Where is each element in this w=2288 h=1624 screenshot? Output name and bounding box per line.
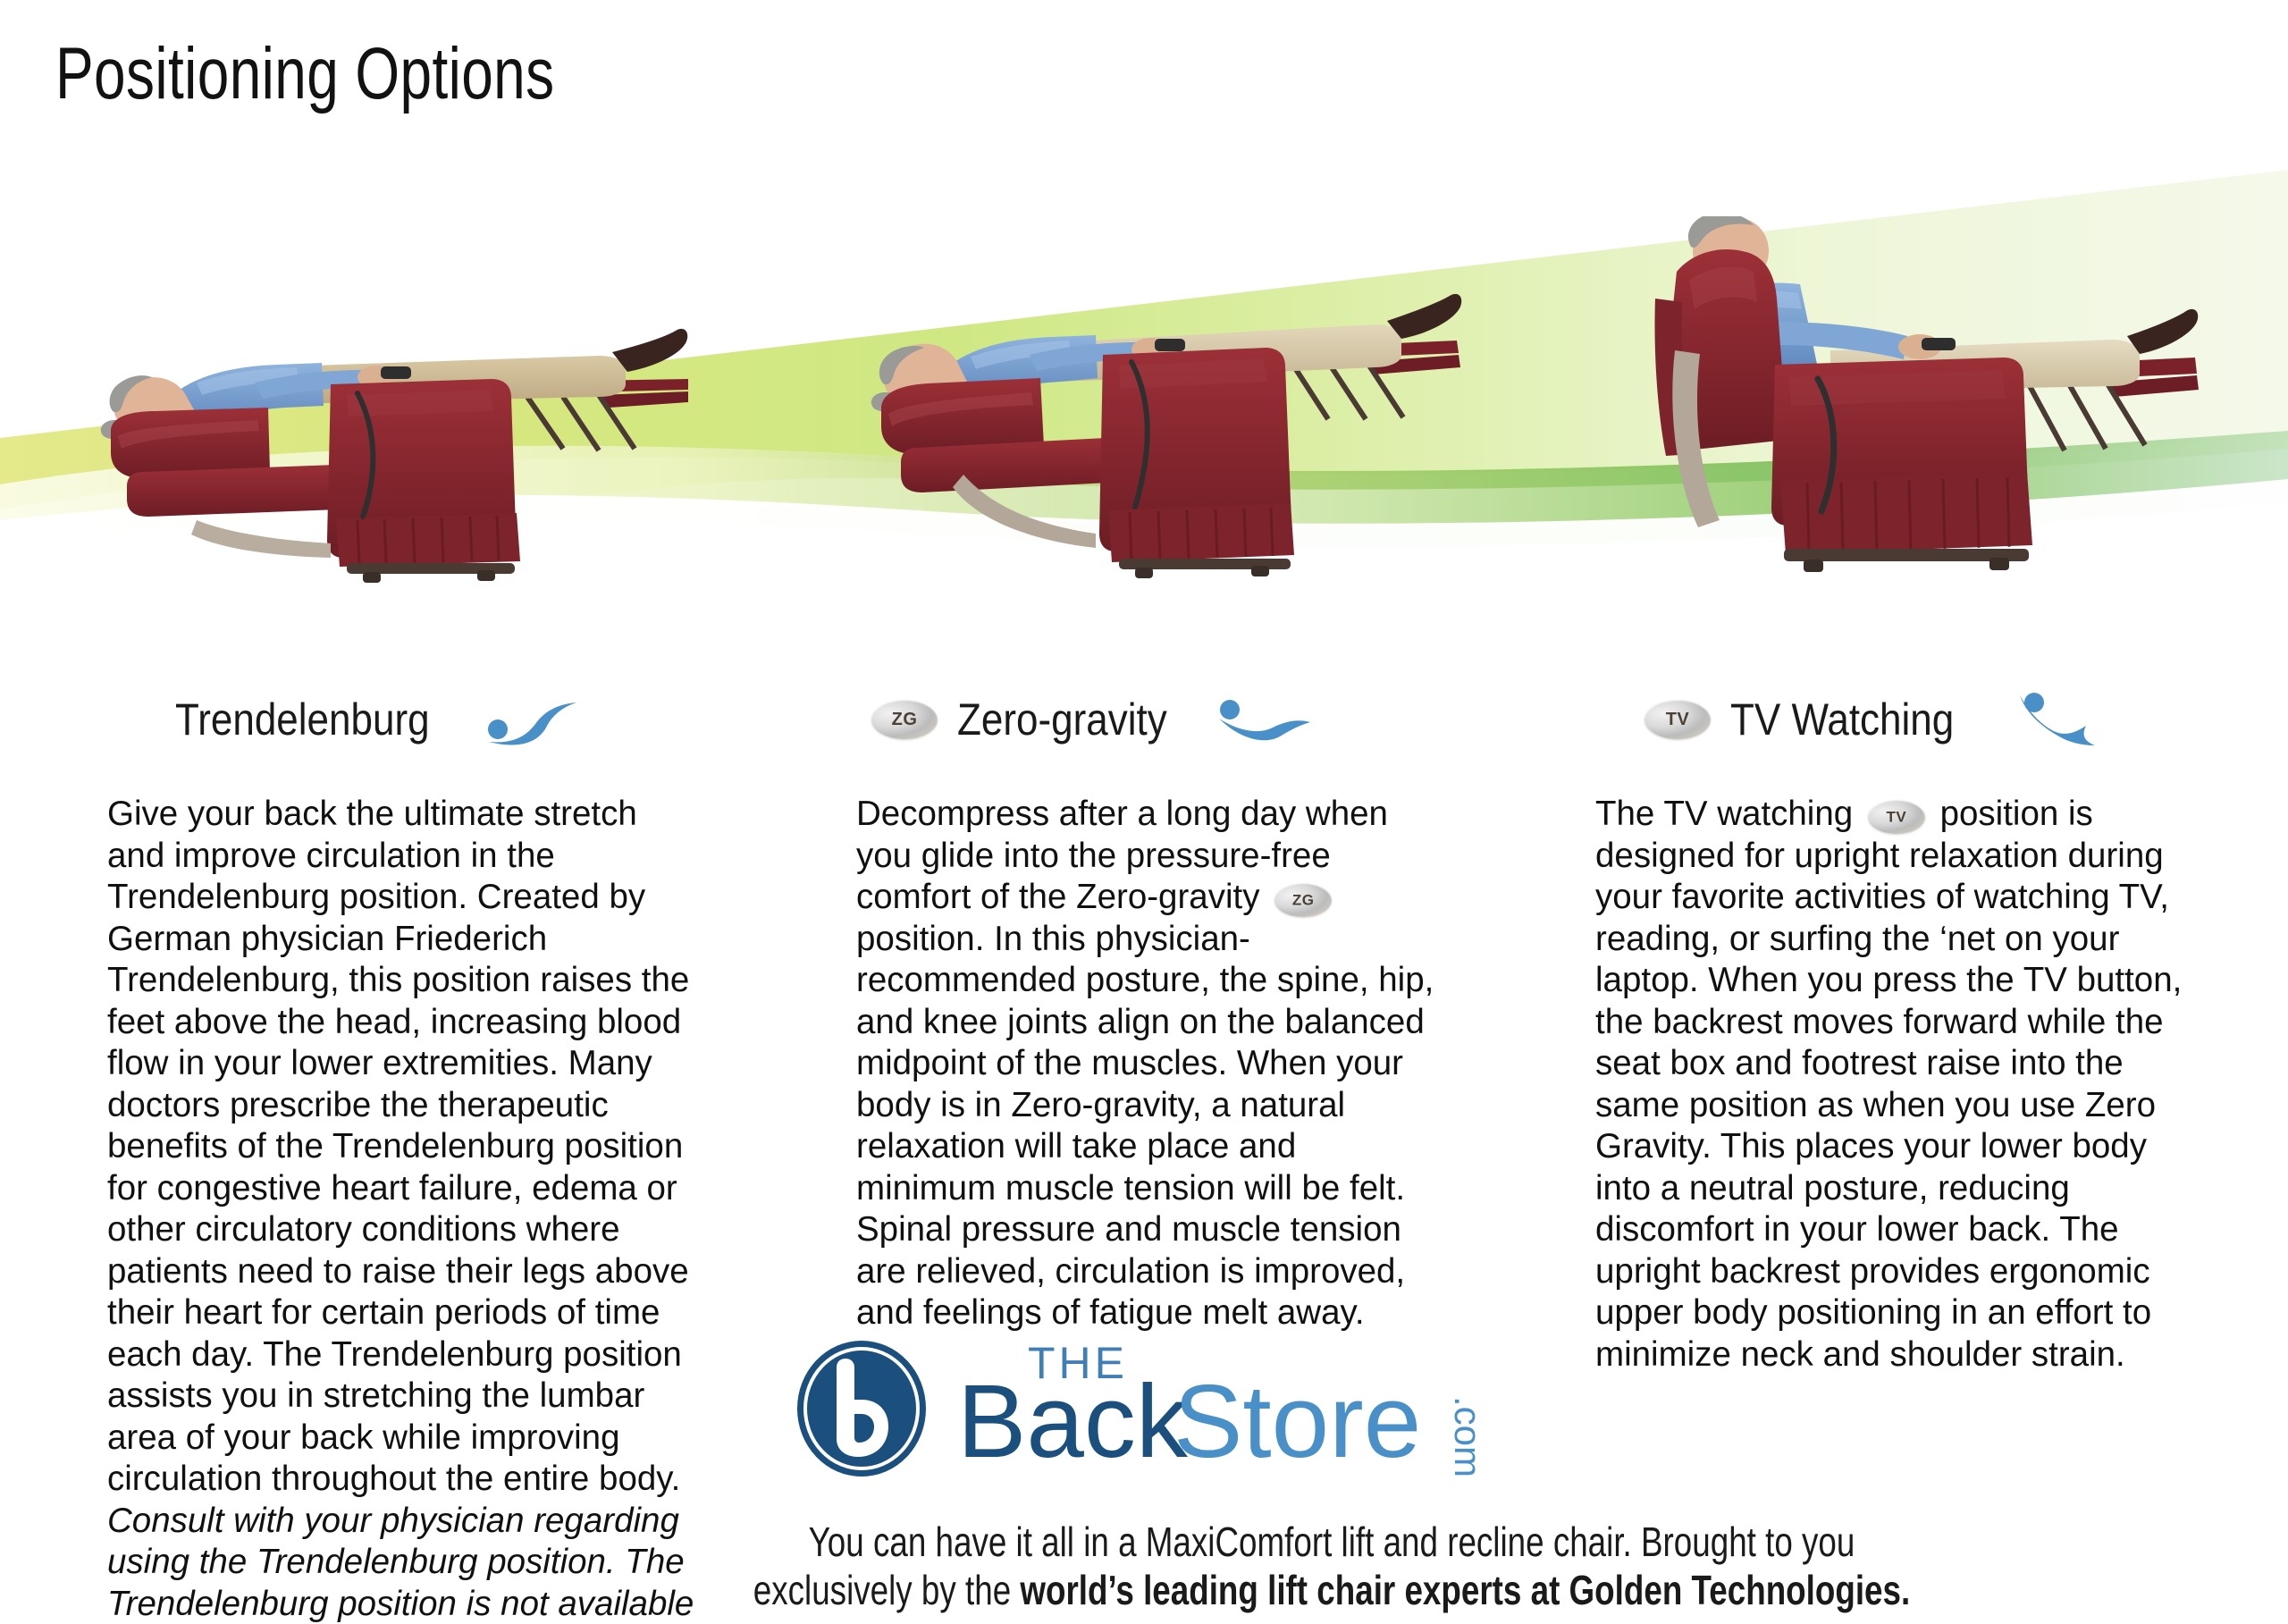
trendelenburg-body-text: Give your back the ultimate stretch and … — [107, 795, 689, 1498]
tv-body-before: The TV watching — [1595, 795, 1863, 833]
footer-line-2-thin: exclusively by the — [753, 1567, 1021, 1613]
heading-zero-gravity: ZG Zero-gravity — [871, 679, 1312, 760]
heading-label-trendelenburg: Trendelenburg — [175, 694, 430, 745]
position-headings-row: Trendelenburg ZG Zero-gravity TV TV Watc… — [0, 679, 2288, 760]
heading-label-tv-watching: TV Watching — [1730, 694, 1954, 745]
zg-badge-inline-label: ZG — [1274, 893, 1332, 908]
zg-badge-inline-icon[interactable]: ZG — [1274, 883, 1332, 917]
chair-trendelenburg — [63, 297, 742, 592]
paragraph-tv-watching: The TV watching TV position is designed … — [1595, 794, 2203, 1376]
upright-person-icon — [2004, 692, 2100, 747]
zg-badge-icon[interactable]: ZG — [871, 700, 938, 739]
body-column-tv-watching: The TV watching TV position is designed … — [1595, 794, 2203, 1376]
footer-line-1: You can have it all in a MaxiComfort lif… — [574, 1518, 2090, 1566]
logo-dotcom-text: .com — [1447, 1396, 1489, 1477]
hero-illustration — [0, 170, 2288, 661]
thebackstore-logo[interactable]: THE Back Store .com — [794, 1339, 1509, 1482]
body-column-zero-gravity: Decompress after a long day when you gli… — [856, 794, 1437, 1334]
logo-back-text: Back — [957, 1363, 1189, 1479]
tv-badge-label: TV — [1644, 711, 1711, 728]
tv-badge-inline-label: TV — [1868, 810, 1925, 825]
paragraph-trendelenburg: Give your back the ultimate stretch and … — [107, 794, 697, 1624]
tv-badge-icon[interactable]: TV — [1644, 700, 1711, 739]
flat-person-icon — [1215, 692, 1312, 747]
footer-tagline: You can have it all in a MaxiComfort lif… — [384, 1518, 2279, 1614]
reclined-person-icon — [484, 692, 580, 747]
footer-line-2-bold: world’s leading lift chair experts at Go… — [1020, 1567, 1910, 1613]
logo-store-text: Store — [1173, 1363, 1421, 1479]
heading-trendelenburg: Trendelenburg — [175, 679, 580, 760]
heading-label-zero-gravity: Zero-gravity — [957, 694, 1167, 745]
zg-badge-label: ZG — [871, 711, 938, 728]
paragraph-zero-gravity: Decompress after a long day when you gli… — [856, 794, 1437, 1334]
chair-zero-gravity — [831, 283, 1528, 592]
tv-badge-inline-icon[interactable]: TV — [1868, 800, 1925, 834]
heading-tv-watching: TV TV Watching — [1644, 679, 2100, 760]
positioning-options-page: Positioning Options — [0, 0, 2288, 1624]
zg-body-after: position. In this physician-recommended … — [856, 920, 1434, 1333]
tv-body-after: position is designed for upright relaxat… — [1595, 795, 2182, 1374]
chair-tv-watching — [1600, 216, 2288, 592]
page-title: Positioning Options — [55, 32, 555, 116]
body-column-trendelenburg: Give your back the ultimate stretch and … — [107, 794, 697, 1624]
